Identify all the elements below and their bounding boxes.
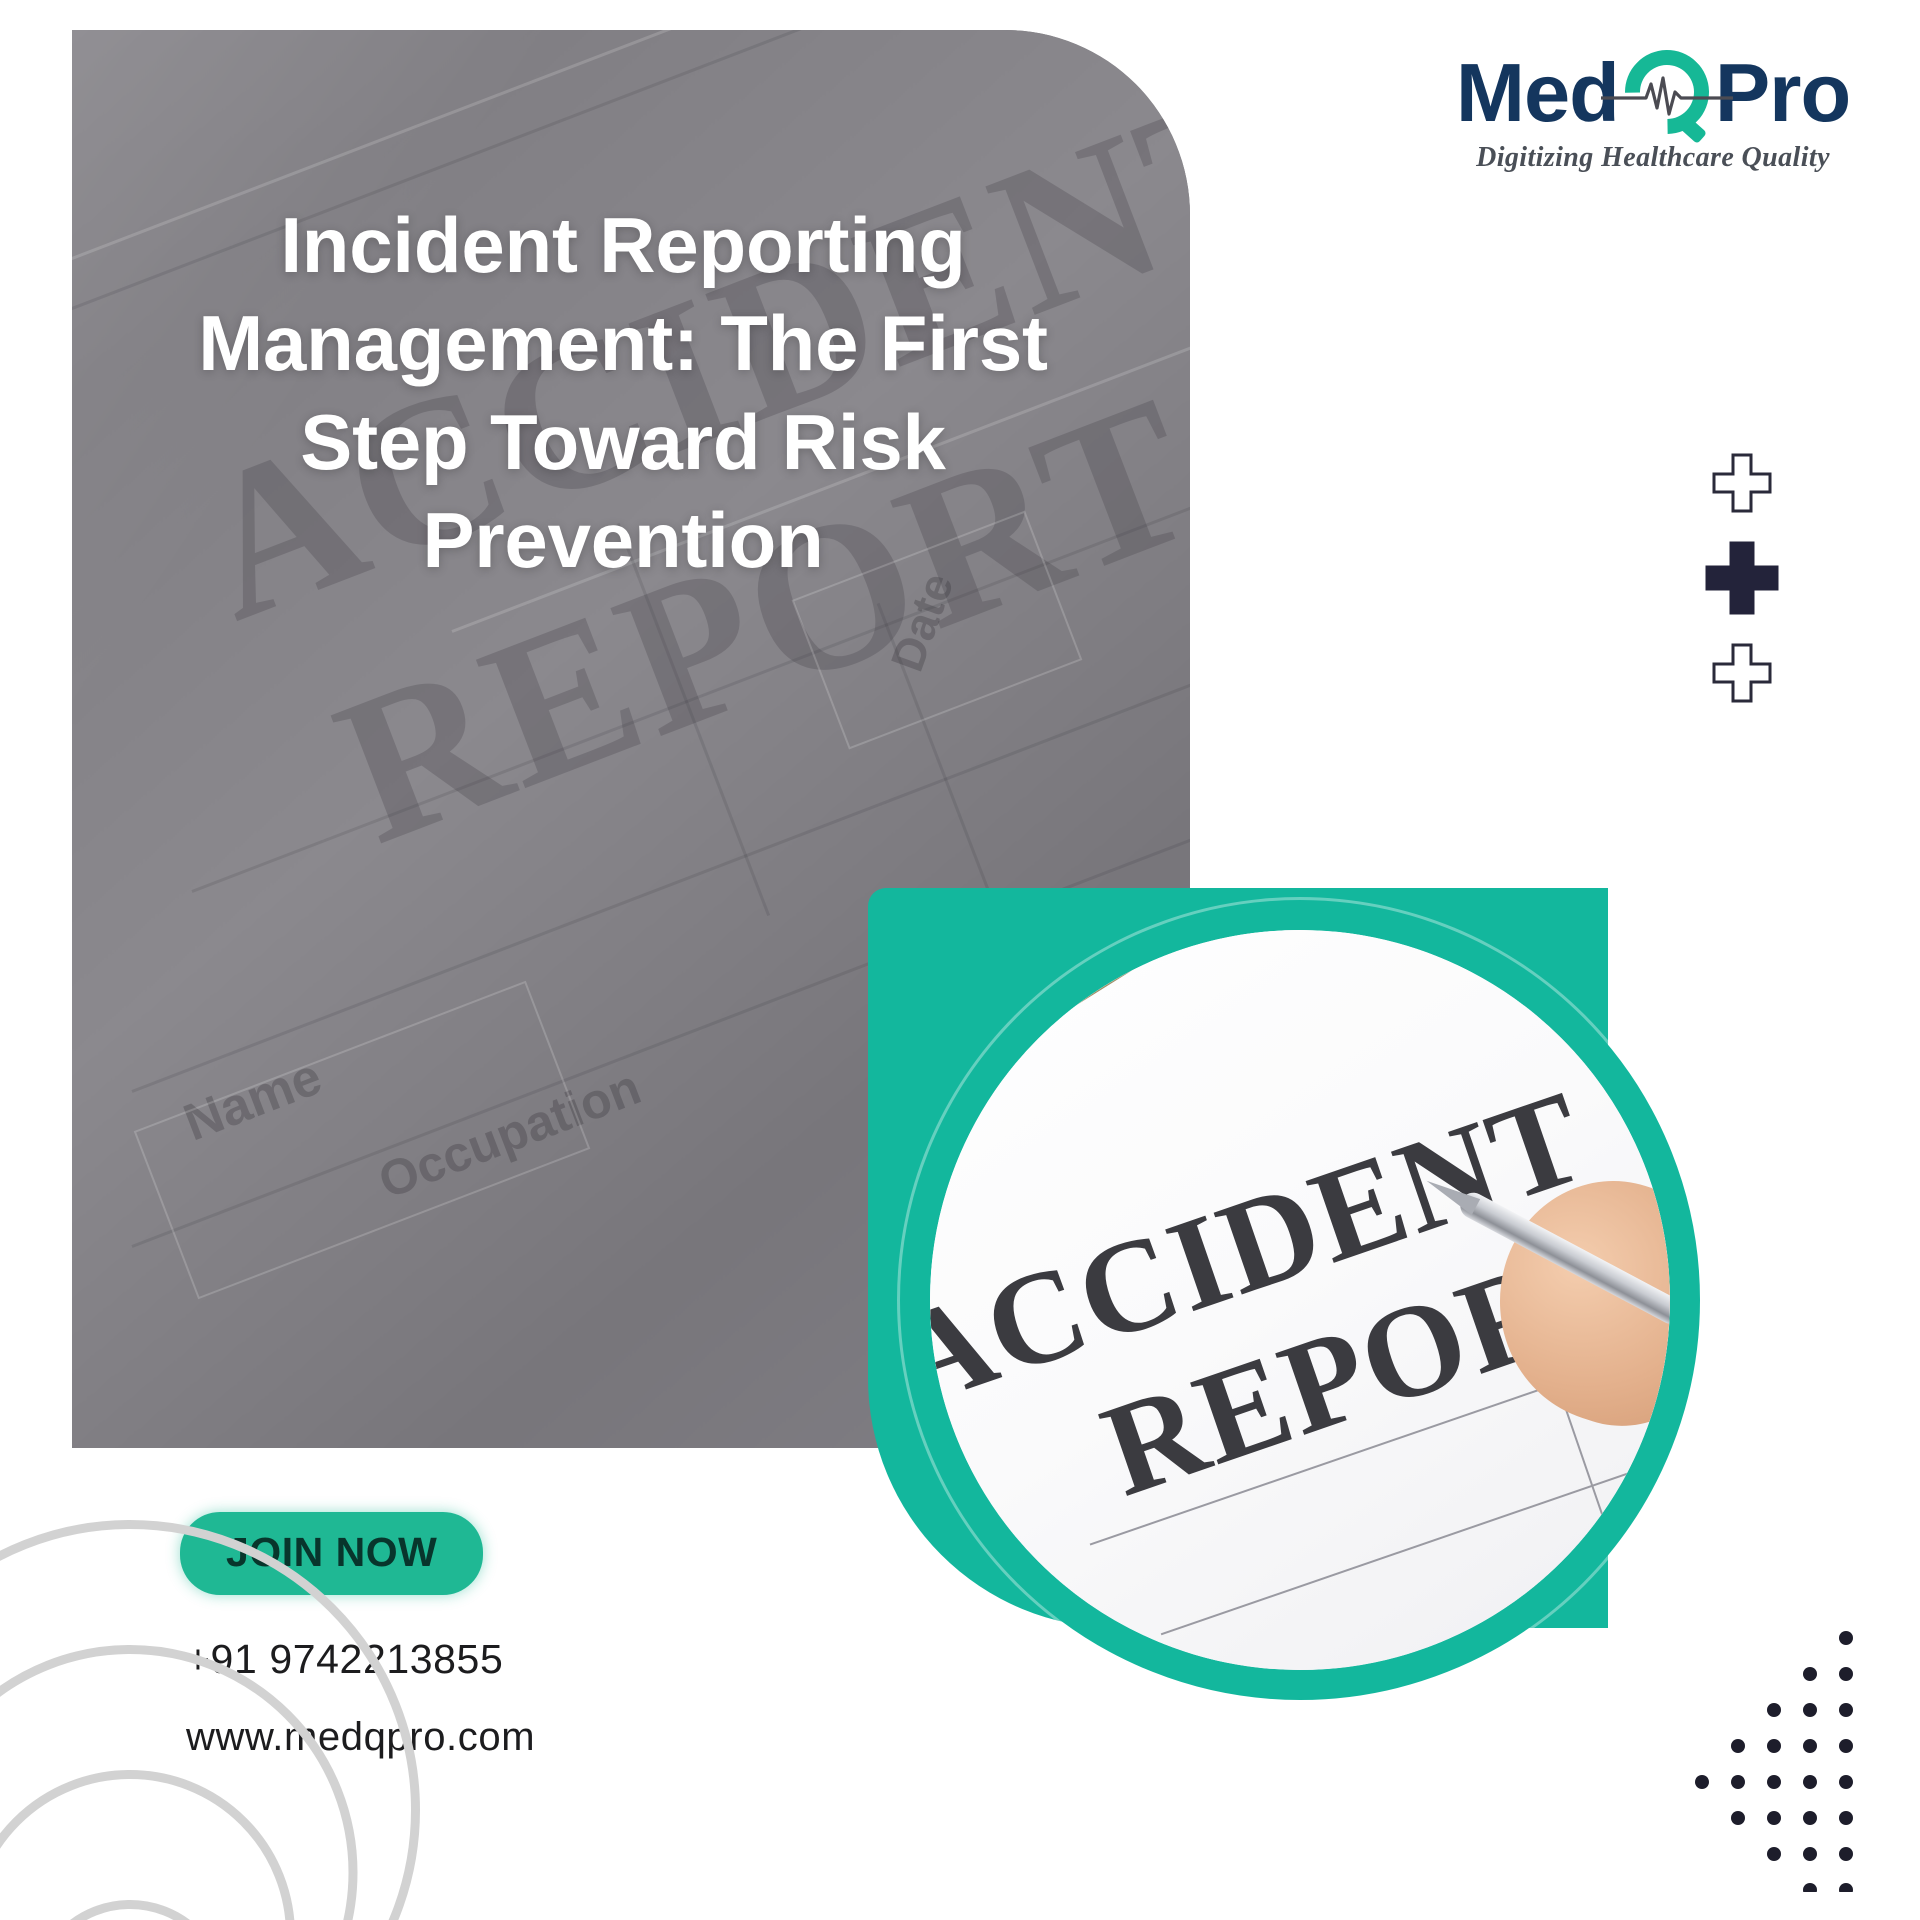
logo-tagline: Digitizing Healthcare Quality	[1438, 142, 1868, 174]
join-now-button[interactable]: JOIN NOW	[180, 1512, 483, 1595]
logo-q-mark-icon	[1615, 44, 1719, 140]
medical-cross-outline-icon	[1711, 452, 1773, 514]
contact-block: +91 9742213855 www.medqpro.com	[186, 1636, 535, 1760]
page-title: Incident Reporting Management: The First…	[118, 196, 1128, 589]
medical-cross-filled-icon	[1704, 540, 1780, 616]
social-post-canvas: ACCIDENT REPORT Date Name Occupation Inc…	[0, 0, 1920, 1920]
contact-phone[interactable]: +91 9742213855	[186, 1636, 535, 1683]
brand-logo[interactable]: Med Pro Digitizing Healthcare Quality	[1438, 44, 1868, 174]
ecg-heartbeat-icon	[1601, 74, 1733, 118]
logo-word-pro: Pro	[1715, 51, 1850, 134]
arc-2	[0, 1770, 295, 1920]
arc-1	[30, 1900, 230, 1920]
medical-cross-outline-icon	[1711, 642, 1773, 704]
logo-word-med: Med	[1456, 51, 1619, 134]
contact-website[interactable]: www.medqpro.com	[186, 1715, 535, 1760]
decorative-crosses	[1682, 452, 1802, 704]
form-rule	[1233, 1507, 1670, 1670]
accident-report-photo: ACCIDENT REPORT Date Age Address Name Oc…	[900, 900, 1700, 1700]
